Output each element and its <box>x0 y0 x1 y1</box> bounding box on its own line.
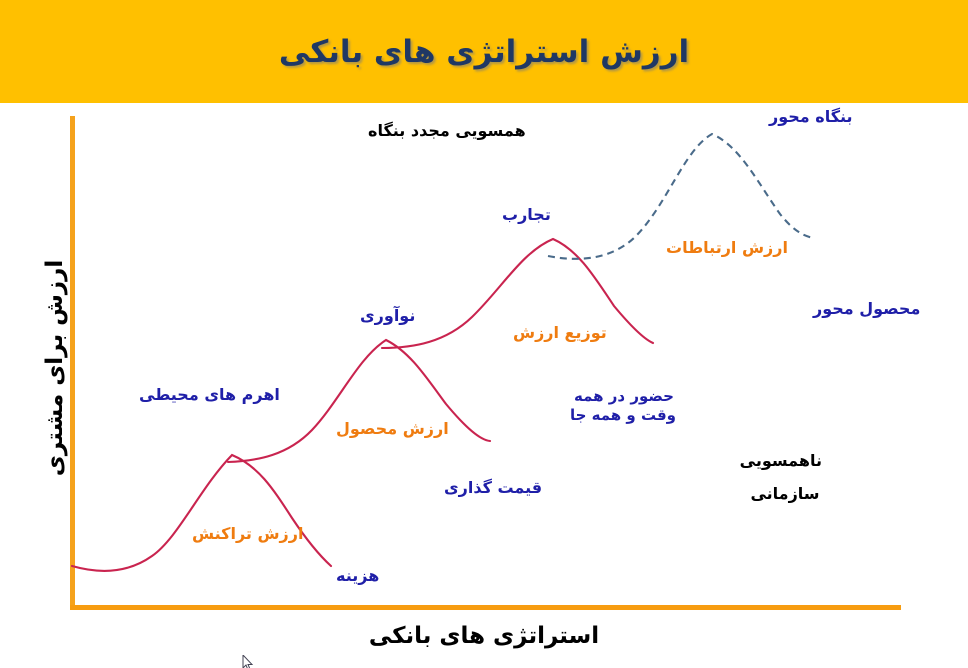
curve-plot <box>0 0 968 668</box>
curve-transaction-value <box>72 455 331 571</box>
label-enterprise-realignment: همسویی مجدد بنگاه <box>368 121 526 141</box>
label-innovation: نوآوری <box>360 306 415 326</box>
label-environmental-levers: اهرم های محیطی <box>139 385 280 405</box>
label-organizational-misalignment-line1: ناهمسویی <box>740 451 822 470</box>
label-product-centric: محصول محور <box>813 299 920 319</box>
label-ubiquitous-presence-line1: حضور در همه <box>574 387 674 405</box>
label-transaction-value: ارزش تراکنش <box>192 524 303 544</box>
mouse-cursor-icon <box>242 655 254 668</box>
label-ubiquitous-presence: حضور در همه وقت و همه جا <box>572 387 676 425</box>
label-product-value: ارزش محصول <box>336 419 449 439</box>
label-experiences: تجارب <box>502 205 551 225</box>
label-pricing: قیمت گذاری <box>444 478 542 498</box>
label-organizational-misalignment-line2: سازمانی <box>750 484 819 504</box>
label-value-distribution: توزیع ارزش <box>513 323 607 343</box>
label-ubiquitous-presence-line2: وقت و همه جا <box>570 406 676 424</box>
label-organizational-misalignment: ناهمسویی سازمانی <box>748 451 822 505</box>
slide-canvas: ارزش استراتژی های بانکی ارزش برای مشتری … <box>0 0 968 668</box>
label-relationship-value: ارزش ارتباطات <box>666 238 788 258</box>
label-enterprise-centric: بنگاه محور <box>769 107 853 127</box>
label-cost: هزینه <box>336 566 379 586</box>
